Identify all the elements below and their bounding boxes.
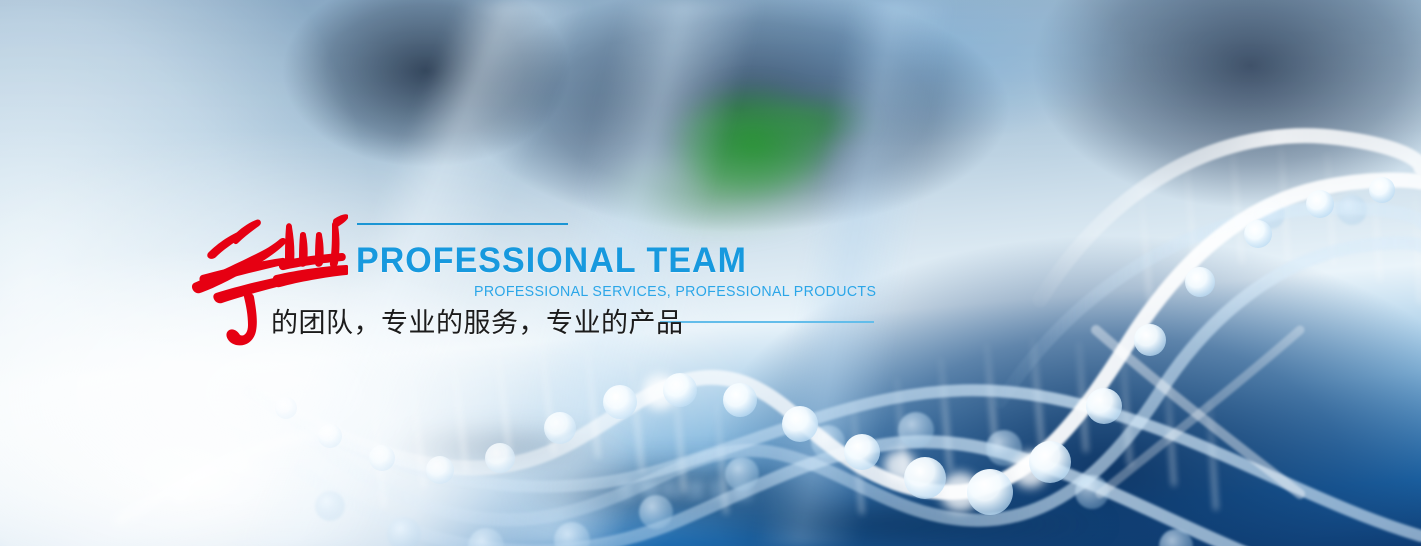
chinese-tagline: 的团队，专业的服务，专业的产品 [271,307,684,341]
subheadline-services: PROFESSIONAL SERVICES, PROFESSIONAL PROD… [474,285,876,300]
headline-professional-team: PROFESSIONAL TEAM [356,243,747,278]
hero-banner: 生物科技实验 [0,0,1421,546]
divider-line-top [357,223,568,225]
divider-line-bottom [660,321,874,323]
